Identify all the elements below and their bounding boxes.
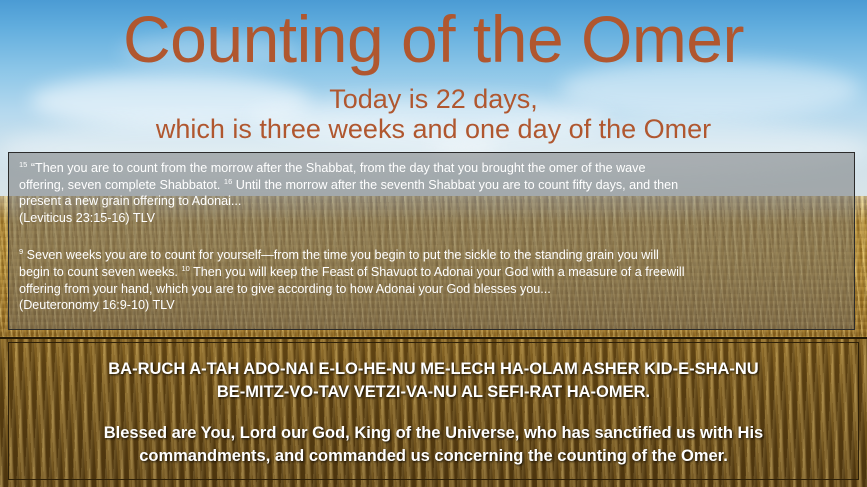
passage-line-text: offering, seven complete Shabbatot. <box>19 178 220 192</box>
omer-slide: Counting of the Omer Today is 22 days, w… <box>0 0 867 487</box>
blessing-transliteration-line-2: BE-MITZ-VO-TAV VETZI-VA-NU AL SEFI-RAT H… <box>0 381 867 404</box>
passage-line-text: begin to count seven weeks. <box>19 265 178 279</box>
passage-line-text: Seven weeks you are to count for yoursel… <box>27 248 659 262</box>
passage-line: 15 “Then you are to count from the morro… <box>19 160 844 177</box>
verse-number: 15 <box>19 160 27 169</box>
scripture-passage-deuteronomy: 9 Seven weeks you are to count for yours… <box>19 247 844 313</box>
blessing-panel: BA-RUCH A-TAH ADO-NAI E-LO-HE-NU ME-LECH… <box>0 337 867 487</box>
blessing-translation-line-1: Blessed are You, Lord our God, King of t… <box>0 422 867 445</box>
scripture-box: 15 “Then you are to count from the morro… <box>8 152 855 330</box>
passage-line: offering from your hand, which you are t… <box>19 281 844 298</box>
passage-line: 9 Seven weeks you are to count for yours… <box>19 247 844 264</box>
omer-count-line-2: which is three weeks and one day of the … <box>0 114 867 144</box>
blessing-transliteration: BA-RUCH A-TAH ADO-NAI E-LO-HE-NU ME-LECH… <box>0 358 867 404</box>
passage-citation: (Leviticus 23:15-16) TLV <box>19 210 844 227</box>
passage-citation: (Deuteronomy 16:9-10) TLV <box>19 297 844 314</box>
page-title: Counting of the Omer <box>0 2 867 76</box>
passage-line: offering, seven complete Shabbatot. 16 U… <box>19 177 844 194</box>
blessing-transliteration-line-1: BA-RUCH A-TAH ADO-NAI E-LO-HE-NU ME-LECH… <box>0 358 867 381</box>
verse-number: 16 <box>224 176 232 185</box>
passage-line-text: Until the morrow after the seventh Shabb… <box>236 178 678 192</box>
passage-line-text: “Then you are to count from the morrow a… <box>31 161 646 175</box>
blessing-translation-line-2: commandments, and commanded us concernin… <box>0 445 867 468</box>
verse-number: 9 <box>19 247 23 256</box>
passage-line: present a new grain offering to Adonai..… <box>19 193 844 210</box>
scripture-passage-leviticus: 15 “Then you are to count from the morro… <box>19 160 844 226</box>
passage-line: begin to count seven weeks. 10 Then you … <box>19 264 844 281</box>
panel-divider <box>0 337 867 339</box>
verse-number: 10 <box>181 264 189 273</box>
omer-count-line-1: Today is 22 days, <box>0 84 867 114</box>
passage-line-text: Then you will keep the Feast of Shavuot … <box>193 265 684 279</box>
omer-count-subtitle: Today is 22 days, which is three weeks a… <box>0 84 867 144</box>
blessing-translation: Blessed are You, Lord our God, King of t… <box>0 422 867 468</box>
